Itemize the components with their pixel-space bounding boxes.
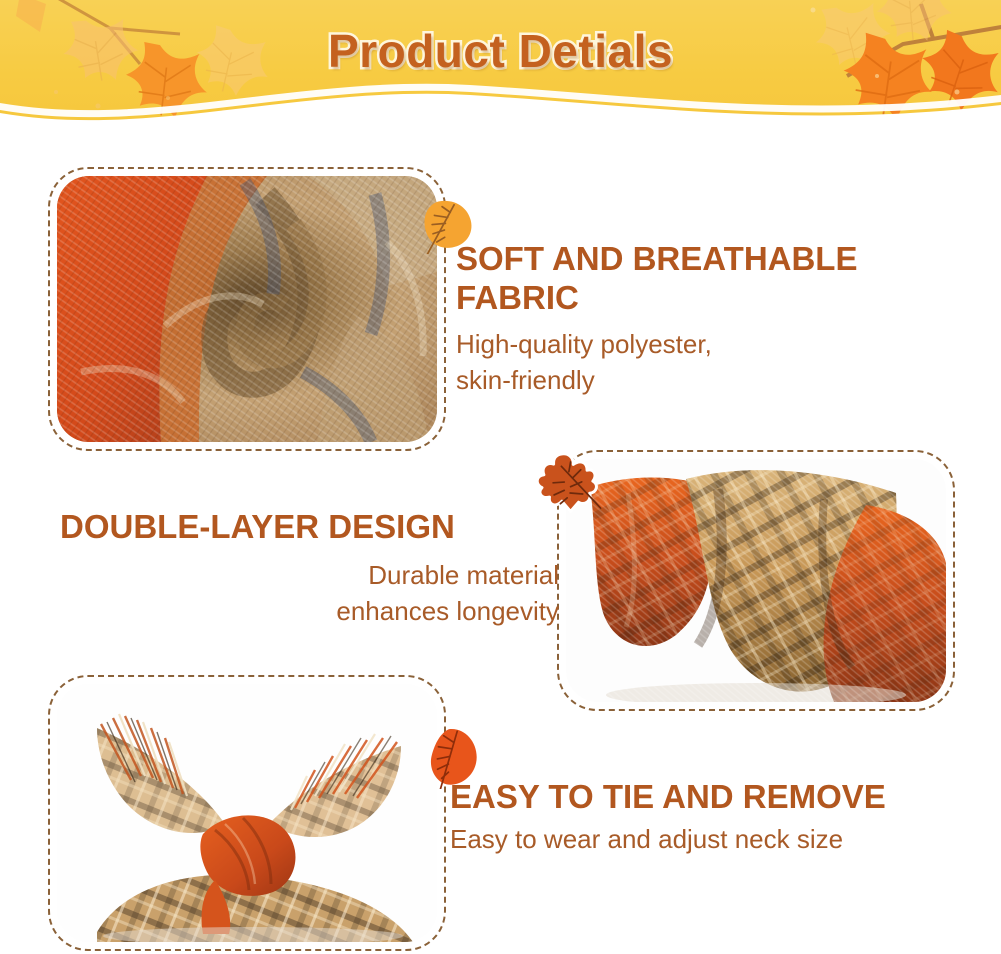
feature-heading: SOFT AND BREATHABLE FABRIC (456, 240, 976, 318)
feature-body-line-1: Durable material (60, 559, 565, 593)
feature-text-easy-to-tie-and-remove: EASY TO TIE AND REMOVE Easy to wear and … (450, 778, 995, 857)
photo-folded-fabric (566, 459, 946, 702)
feature-body-line-1: High-quality polyester, (456, 328, 976, 362)
feature-photo-soft-breathable-fabric (57, 176, 437, 442)
wave-divider (0, 79, 1001, 136)
feature-body-line-1: Easy to wear and adjust neck size (450, 823, 995, 857)
feature-body-line-2: enhances longevity (60, 595, 565, 629)
photo-knotted-scarf (57, 684, 437, 942)
header-banner: Product Detials (0, 0, 1001, 136)
feature-heading: EASY TO TIE AND REMOVE (450, 778, 995, 817)
birch-leaf-icon (416, 196, 478, 259)
feature-text-soft-breathable-fabric: SOFT AND BREATHABLE FABRIC High-quality … (456, 240, 976, 397)
feature-photo-double-layer-design (566, 459, 946, 702)
page-title: Product Detials (0, 24, 1001, 78)
autumn-leaf-icon (420, 727, 486, 794)
oak-leaf-icon (528, 450, 602, 525)
feature-body-line-2: skin-friendly (456, 364, 976, 398)
feature-heading: DOUBLE-LAYER DESIGN (60, 508, 565, 547)
product-details-infographic: Product Detials (0, 0, 1001, 954)
feature-text-double-layer-design: DOUBLE-LAYER DESIGN Durable material enh… (60, 508, 565, 629)
photo-swirled-fabric (57, 176, 437, 442)
feature-photo-easy-to-tie-and-remove (57, 684, 437, 942)
